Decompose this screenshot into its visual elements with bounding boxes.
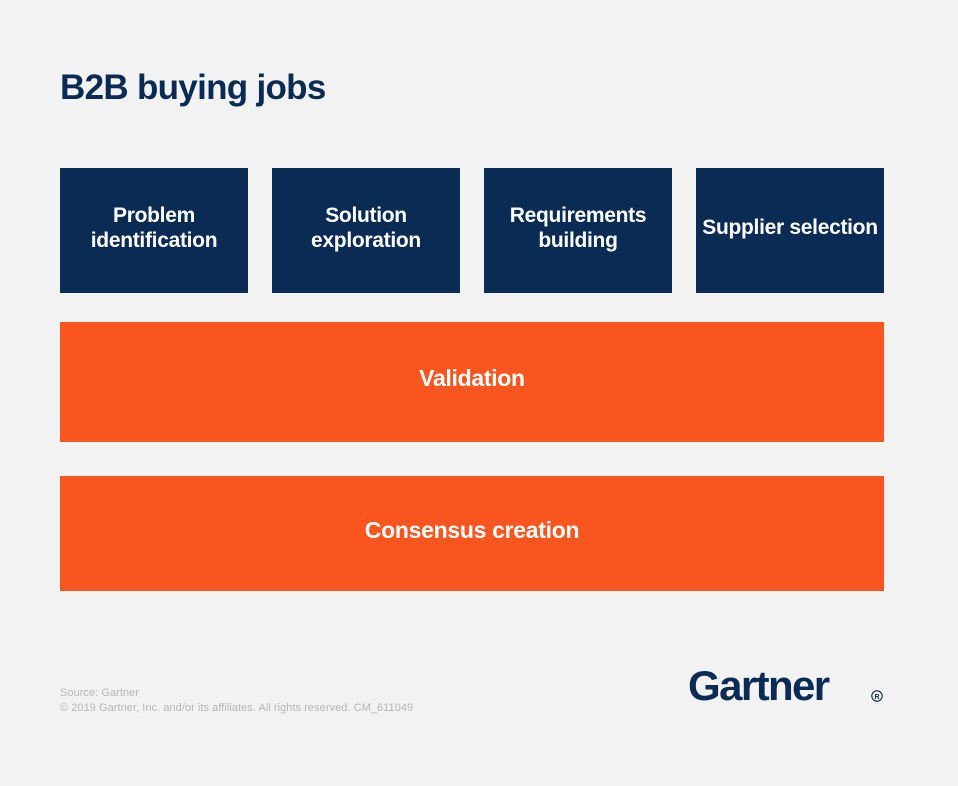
- stage-label: Solution exploration: [272, 204, 460, 254]
- stage-box-supplier-selection: Supplier selection: [696, 168, 884, 293]
- buying-jobs-stage-row: Problem identification Solution explorat…: [60, 168, 884, 293]
- bar-label: Consensus creation: [365, 517, 579, 544]
- stage-label: Requirements building: [484, 204, 672, 254]
- svg-text:Gartner: Gartner: [688, 663, 830, 709]
- bar-validation: Validation: [60, 322, 884, 442]
- stage-label: Supplier selection: [696, 216, 883, 241]
- svg-text:R: R: [874, 694, 879, 701]
- infographic-canvas: B2B buying jobs Problem identification S…: [0, 0, 958, 786]
- stage-box-problem-identification: Problem identification: [60, 168, 248, 293]
- page-title: B2B buying jobs: [60, 68, 326, 108]
- bar-label: Validation: [419, 365, 525, 392]
- footer-attribution: Source: Gartner © 2019 Gartner, Inc. and…: [60, 686, 413, 716]
- footer-source-line: Source: Gartner: [60, 686, 413, 701]
- bar-consensus-creation: Consensus creation: [60, 476, 884, 591]
- stage-label: Problem identification: [60, 204, 248, 254]
- stage-box-solution-exploration: Solution exploration: [272, 168, 460, 293]
- gartner-logo: Gartner R: [688, 663, 888, 711]
- stage-box-requirements-building: Requirements building: [484, 168, 672, 293]
- footer-copyright-line: © 2019 Gartner, Inc. and/or its affiliat…: [60, 701, 413, 716]
